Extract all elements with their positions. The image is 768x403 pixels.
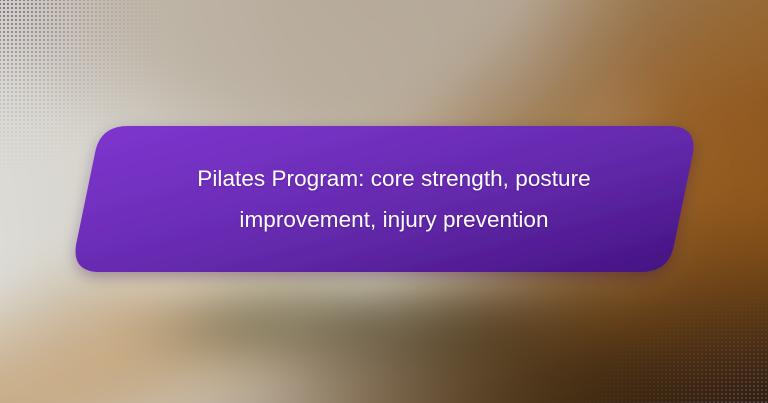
banner-canvas: Pilates Program: core strength, posture … [0,0,768,403]
headline-line-2: improvement, injury prevention [239,199,548,240]
headline-card: Pilates Program: core strength, posture … [60,118,708,280]
headline-line-1: Pilates Program: core strength, posture [197,158,590,199]
headline-text-block: Pilates Program: core strength, posture … [156,118,632,280]
